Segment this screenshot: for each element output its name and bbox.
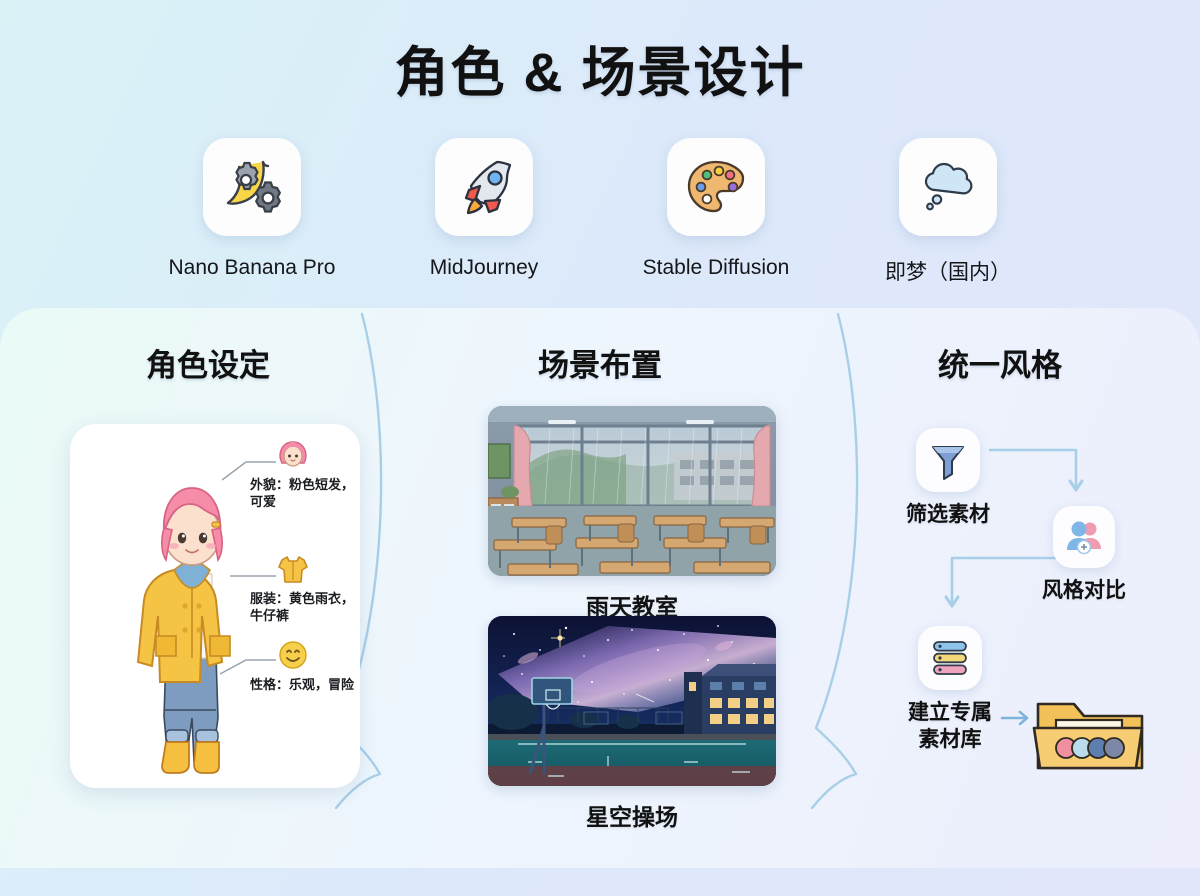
thought-cloud-icon <box>899 138 997 236</box>
starry-sports-field-image <box>488 616 776 786</box>
trait-text-personality: 性格：乐观，冒险 <box>250 676 360 693</box>
trait-text-clothing: 服装：黄色雨衣， 牛仔裤 <box>250 590 360 624</box>
palette-icon <box>667 138 765 236</box>
flow-node-asset-folder[interactable] <box>1030 690 1150 785</box>
tool-stable-diffusion[interactable]: Stable Diffusion <box>631 138 801 286</box>
flow-label: 建立专属 素材库 <box>908 699 992 753</box>
heading-text: 场景布置 <box>528 340 672 387</box>
rainy-classroom-image <box>488 406 776 576</box>
rocket-icon <box>435 138 533 236</box>
tool-label: Stable Diffusion <box>643 256 790 280</box>
character-card[interactable]: 外貌：粉色短发， 可爱 服装：黄色雨衣， 牛仔裤 性格：乐观，冒险 <box>70 424 360 788</box>
scene-card-field[interactable]: 星空操场 <box>488 616 776 832</box>
tool-label: 即梦（国内） <box>885 256 1011 286</box>
tshirt-icon <box>276 552 310 586</box>
page-title: 角色 & 场景设计 <box>0 28 1200 107</box>
girl-face-icon <box>276 438 310 472</box>
stacked-list-icon <box>918 626 982 690</box>
scene-card-classroom[interactable]: 雨天教室 <box>488 406 776 622</box>
flow-node-filter-assets[interactable]: 筛选素材 <box>906 428 990 528</box>
smiley-icon <box>276 638 310 672</box>
tool-label: Nano Banana Pro <box>169 256 336 280</box>
flow-label: 风格对比 <box>1042 577 1126 604</box>
tools-row: Nano Banana Pro MidJourney <box>0 138 1200 286</box>
trait-text-appearance: 外貌：粉色短发， 可爱 <box>250 476 360 510</box>
heading-text: 角色设定 <box>136 340 280 387</box>
library-to-folder-arrow <box>1000 708 1034 728</box>
flow-label: 筛选素材 <box>906 501 990 528</box>
column-heading-style: 统一风格 <box>928 340 1072 387</box>
column-heading-character: 角色设定 <box>136 340 280 387</box>
flow-node-style-compare[interactable]: 风格对比 <box>1042 506 1126 604</box>
folder-swatches-icon <box>1030 690 1150 780</box>
tool-label: MidJourney <box>430 256 539 280</box>
flow-node-build-library[interactable]: 建立专属 素材库 <box>908 626 992 753</box>
tool-midjourney[interactable]: MidJourney <box>399 138 569 286</box>
tool-jimeng[interactable]: 即梦（国内） <box>863 138 1033 286</box>
heading-text: 统一风格 <box>928 340 1072 387</box>
banana-gears-icon <box>203 138 301 236</box>
funnel-icon <box>916 428 980 492</box>
tool-nano-banana-pro[interactable]: Nano Banana Pro <box>167 138 337 286</box>
two-people-icon <box>1053 506 1115 568</box>
scene-caption: 星空操场 <box>488 798 776 832</box>
column-heading-scene: 场景布置 <box>528 340 672 387</box>
